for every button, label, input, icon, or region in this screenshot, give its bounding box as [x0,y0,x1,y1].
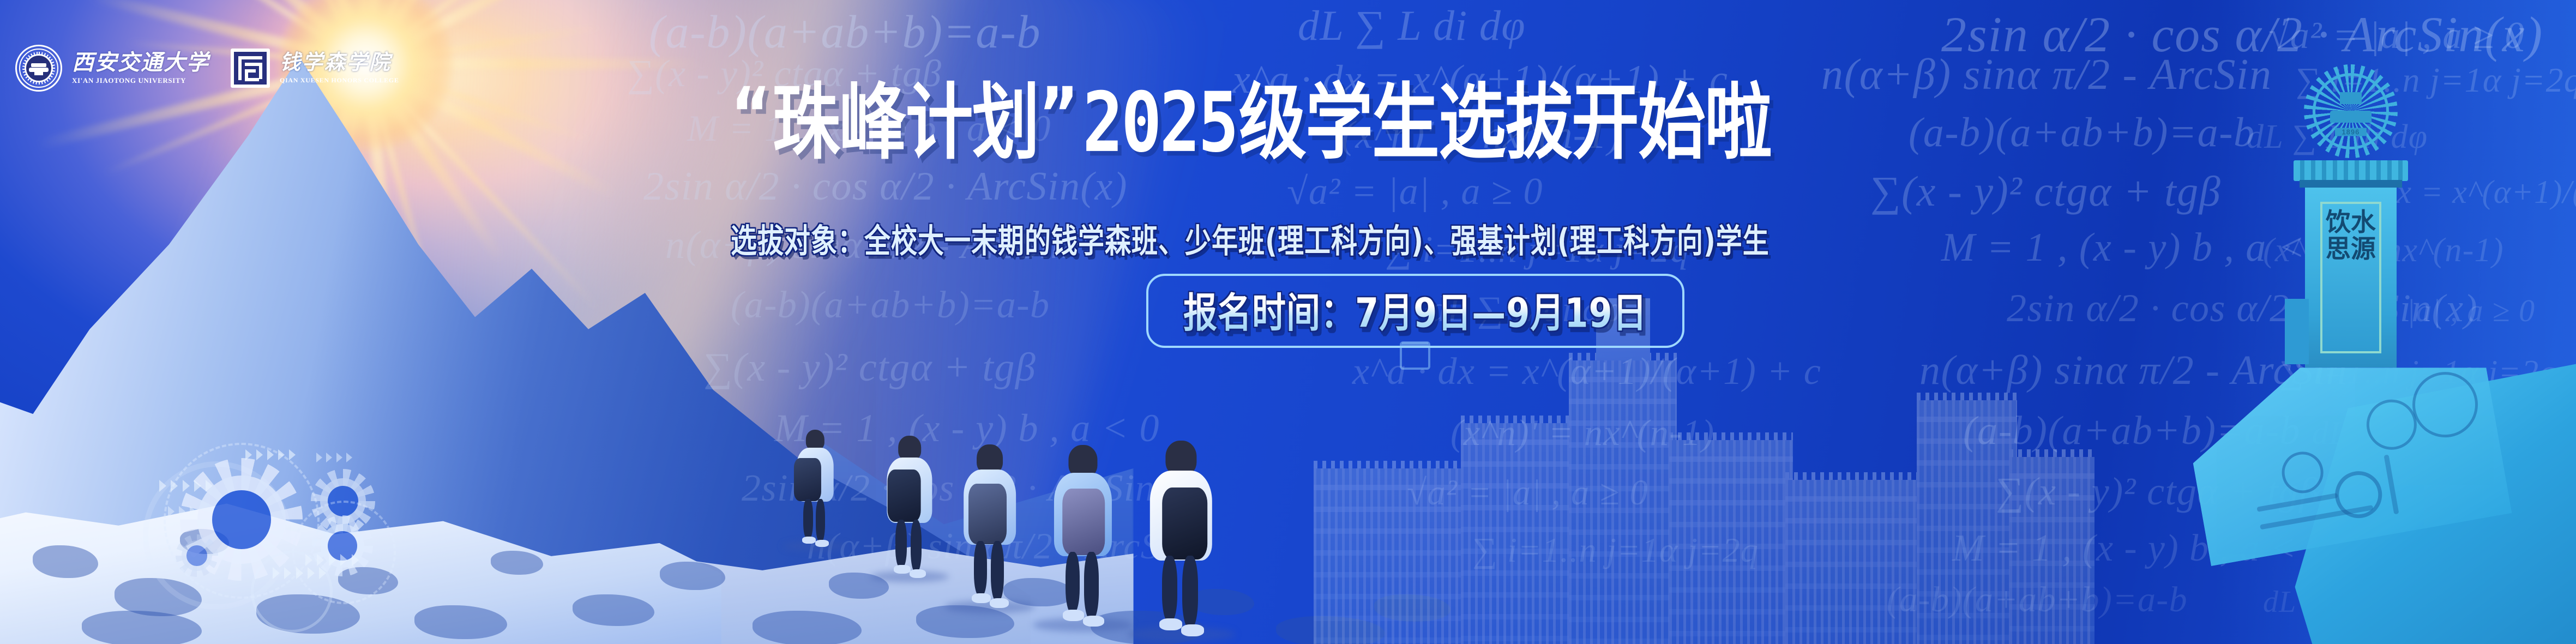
college-name-cn: 钱学森学院 [280,52,399,73]
registration-period-text: 报名时间：7月9日—9月19日 [1183,280,1647,339]
climber-shoe [1159,618,1182,630]
climber-shoe [1063,610,1084,621]
promo-text-block: “珠峰计划”2025级学生选拔开始啦 选拔对象：全校大一末期的钱学森班、少年班(… [731,82,2416,252]
climber-shoe [815,540,829,547]
arrow-chevrons-icon [168,506,198,517]
headline: “珠峰计划”2025级学生选拔开始啦 [731,82,2416,164]
promo-banner: (a-b)(a+ab+b)=a-bdL ∑ L di dφ2sin α/2 · … [0,0,2576,644]
college-name-en: QIAN XUESEN HONORS COLLEGE [280,76,399,85]
registration-period-box: 报名时间：7月9日—9月19日 [1146,274,1684,348]
student-climber [1050,445,1116,629]
climber-backpack [968,484,1007,544]
campus-building-silhouette [1314,360,2086,644]
calendar-icon [1400,341,1430,370]
headline-tail: 级学生选拔开始啦 [1239,82,1771,164]
student-climber [793,430,836,549]
xjtu-name-en: XI'AN JIAOTONG UNIVERSITY [72,76,209,85]
climber-backpack [1063,489,1105,555]
eligibility-label: 选拔对象： [731,222,864,261]
climber-leg [911,520,922,572]
monument-foot [2285,299,2309,364]
climber-shoe [990,598,1009,608]
headline-quote-close: ” [1039,82,1080,149]
climber-leg [803,499,812,539]
student-climber [1145,441,1217,639]
arrow-chevrons-icon [245,449,298,460]
climber-leg [974,541,987,596]
climber-leg [991,541,1004,601]
arrow-chevrons-icon [316,453,354,462]
climber-leg [816,499,825,542]
climber-leg [895,520,907,568]
climber-leg [1162,556,1178,622]
logo-row: 西安交通大学 XI'AN JIAOTONG UNIVERSITY 钱学森学院 Q… [15,45,399,92]
climber-backpack [888,470,921,522]
climber-backpack [1162,487,1208,559]
xjtu-wordmark: 西安交通大学 XI'AN JIAOTONG UNIVERSITY [72,52,209,85]
student-climber [960,444,1020,610]
climber-leg [1084,552,1099,618]
eligibility-line: 选拔对象：全校大一末期的钱学森班、少年班(理工科方向)、强基计划(理工科方向)学… [731,214,2416,262]
qian-xuesen-maze-mark-icon [231,49,270,88]
climber-leg [1182,556,1198,628]
headline-quote-open: “ [731,82,772,149]
eligibility-body: 全校大一末期的钱学森班、少年班(理工科方向)、强基计划(理工科方向)学生 [864,222,1770,261]
arrow-chevrons-icon [305,554,362,566]
xjtu-name-cn: 西安交通大学 [72,52,209,74]
climber-backpack [794,458,821,501]
climber-shoe [1083,616,1104,627]
climber-shoe [894,565,910,574]
qian-xuesen-wordmark: 钱学森学院 QIAN XUESEN HONORS COLLEGE [280,52,399,85]
climber-shoe [972,593,991,603]
climber-leg [1066,552,1080,613]
headline-program-name: 珠峰计划 [773,82,1039,164]
xjtu-seal-icon [15,45,62,92]
climber-shoe [802,537,816,544]
arrow-chevrons-icon [273,567,329,579]
logo-divider [219,49,221,87]
arrow-chevrons-icon [159,480,215,492]
climber-shoe [1181,624,1204,636]
climber-shoe [910,569,926,578]
student-climber [883,436,936,580]
headline-year: 2025 [1082,82,1237,164]
